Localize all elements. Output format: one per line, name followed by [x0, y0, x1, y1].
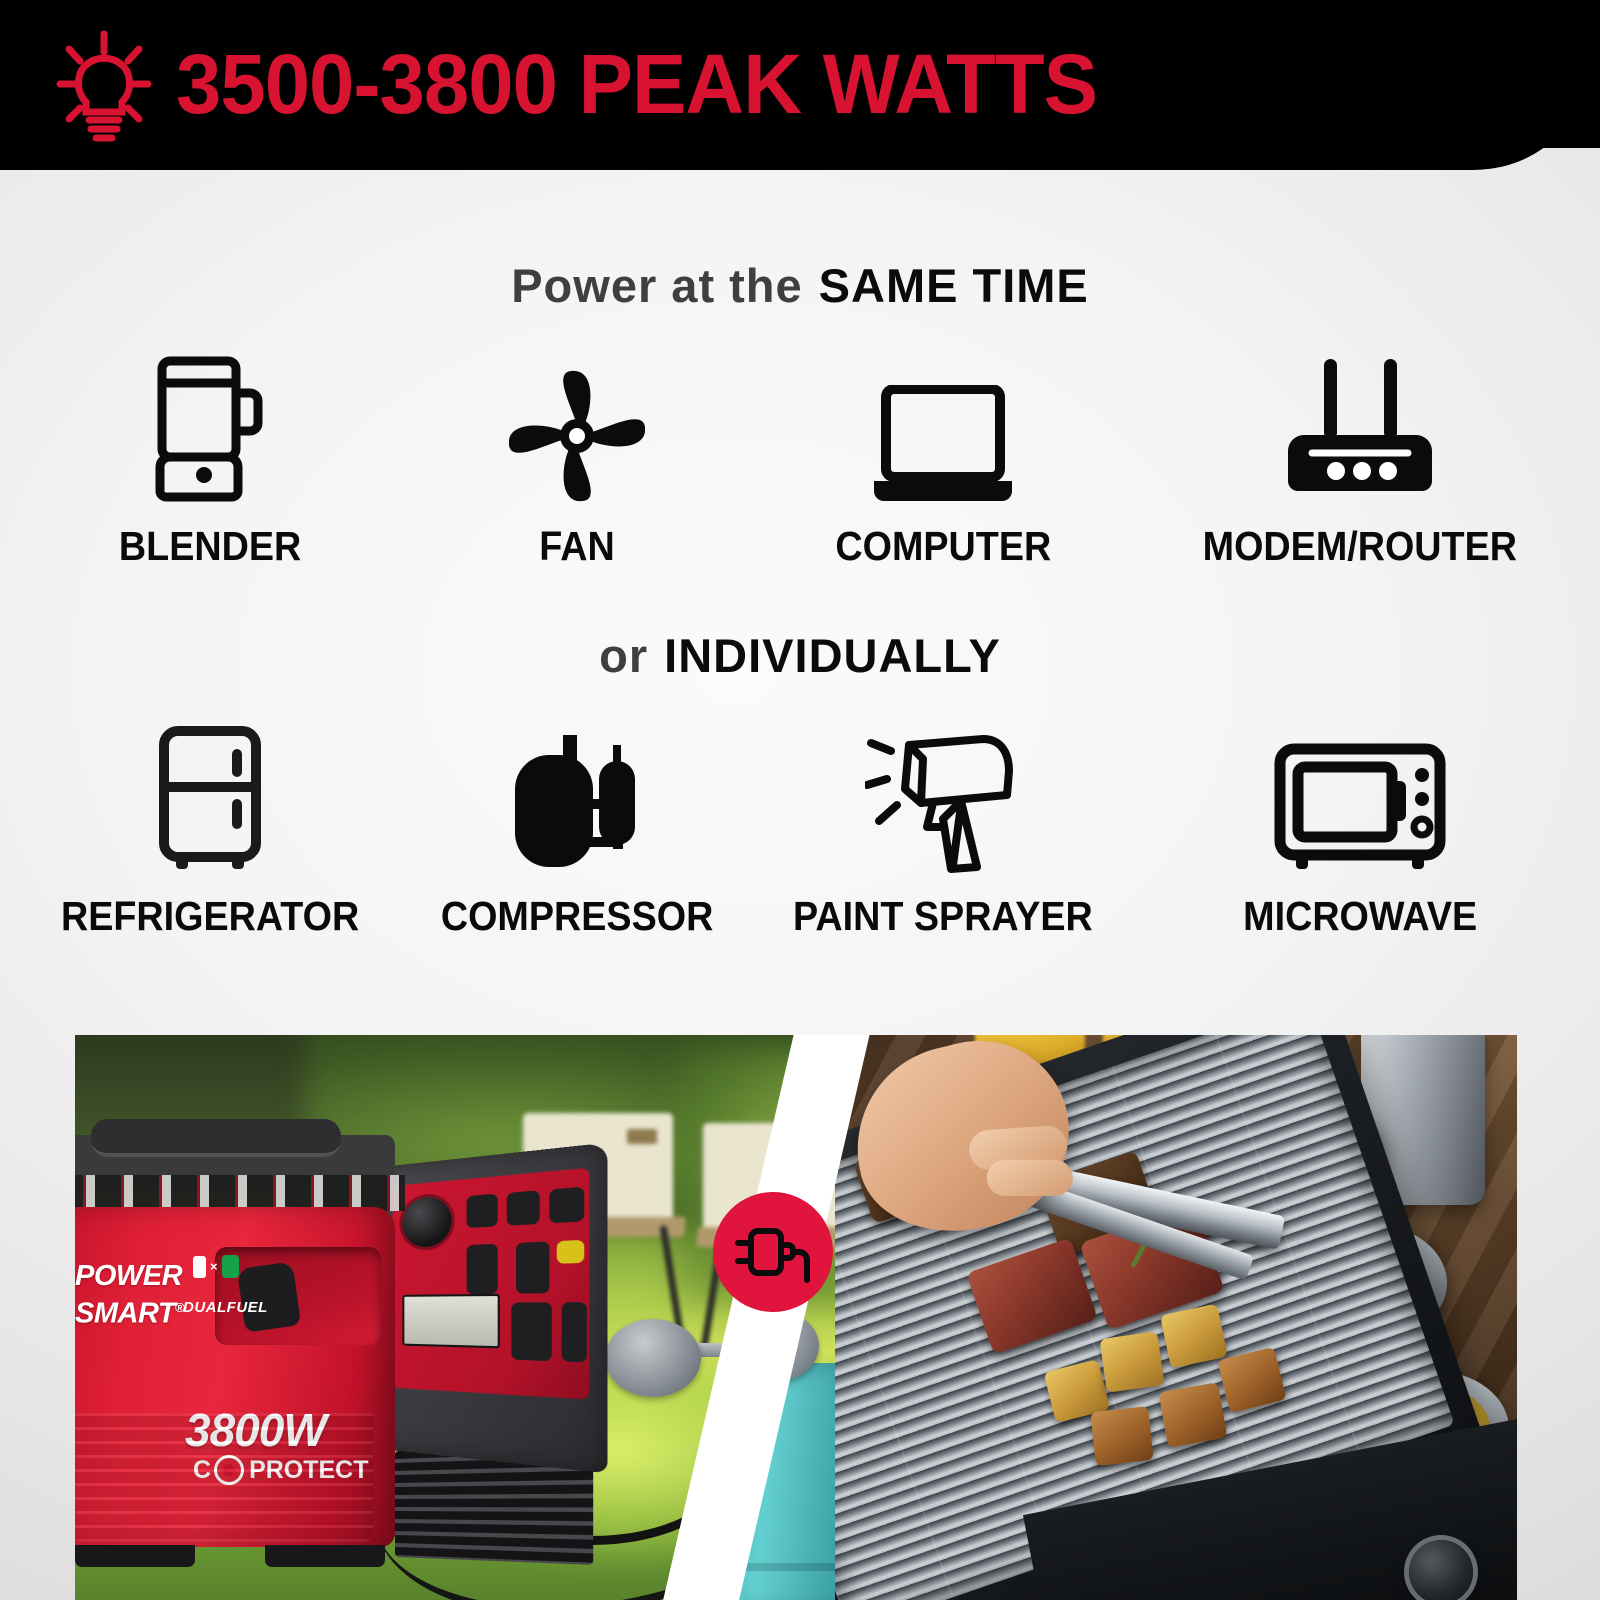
appliance-modem-router: MODEM/ROUTER — [1160, 358, 1560, 570]
appliance-fan: FAN — [427, 358, 727, 570]
portable-generator: POWER SMART® × DUALFUEL 3800W CPROTECT — [75, 1097, 585, 1597]
generator-pull-start — [237, 1261, 301, 1332]
photo-strip: POWER SMART® × DUALFUEL 3800W CPROTECT — [75, 1035, 1517, 1600]
generator-body: POWER SMART® × DUALFUEL 3800W CPROTECT — [75, 1207, 395, 1547]
infographic-page: 3500-3800 PEAK WATTS Power at theSAME TI… — [0, 0, 1600, 1600]
header-bar: 3500-3800 PEAK WATTS — [0, 0, 1600, 180]
dual-fuel-icons: × — [193, 1255, 239, 1278]
generator-start-knob — [402, 1195, 451, 1248]
microwave-label: MICROWAVE — [1243, 893, 1477, 940]
individually-heading-bold: INDIVIDUALLY — [664, 629, 1001, 682]
appliance-microwave: MICROWAVE — [1160, 728, 1560, 940]
skewer-cube — [1100, 1331, 1165, 1393]
simultaneous-appliance-row: BLENDER FAN — [40, 358, 1560, 570]
header-shape — [0, 0, 1600, 180]
generator-warning-sticker — [75, 1175, 405, 1211]
individual-appliance-row: REFRIGERATOR — [40, 728, 1560, 940]
appliance-blender: BLENDER — [40, 358, 380, 570]
skewer-cube — [1090, 1406, 1153, 1466]
blender-label: BLENDER — [119, 523, 301, 570]
refrigerator-label: REFRIGERATOR — [61, 893, 359, 940]
laptop-icon — [870, 358, 1016, 503]
appliance-computer: COMPUTER — [773, 358, 1113, 570]
modem-router-label: MODEM/ROUTER — [1203, 523, 1517, 570]
microwave-icon — [1274, 728, 1446, 873]
individually-heading-light: or — [599, 629, 648, 682]
skewer-cube — [1159, 1382, 1228, 1448]
bbq-grill-photo — [835, 1035, 1517, 1600]
router-icon — [1280, 358, 1440, 503]
appliance-icons-area: Power at theSAME TIME BLENDER — [0, 180, 1600, 1035]
individually-heading: orINDIVIDUALLY — [0, 632, 1600, 679]
fan-label: FAN — [539, 523, 614, 570]
appliance-compressor: COMPRESSOR — [427, 728, 727, 940]
appliance-paint-sprayer: PAINT SPRAYER — [773, 728, 1113, 940]
dual-fuel-label: DUALFUEL — [183, 1299, 268, 1316]
paint-sprayer-label: PAINT SPRAYER — [793, 893, 1093, 940]
same-time-heading: Power at theSAME TIME — [0, 262, 1600, 309]
paint-sprayer-icon — [865, 728, 1021, 873]
refrigerator-icon — [154, 728, 266, 873]
generator-foot — [265, 1545, 385, 1567]
same-time-heading-bold: SAME TIME — [819, 259, 1089, 312]
generator-wattage-label: 3800W — [185, 1403, 326, 1457]
generator-control-panel — [381, 1143, 608, 1474]
page-title: 3500-3800 PEAK WATTS — [176, 36, 1097, 133]
generator-brand: POWER SMART® — [75, 1261, 184, 1330]
generator-display — [402, 1294, 500, 1349]
power-plug-badge — [713, 1192, 833, 1312]
generator-handle — [91, 1119, 341, 1157]
lightbulb-icon — [56, 30, 152, 142]
appliance-refrigerator: REFRIGERATOR — [40, 728, 380, 940]
fan-icon — [509, 358, 645, 503]
blender-icon — [148, 358, 272, 503]
computer-label: COMPUTER — [835, 523, 1051, 570]
generator-foot — [75, 1545, 195, 1567]
power-plug-icon — [735, 1221, 811, 1283]
co-protect-badge: CPROTECT — [193, 1455, 369, 1485]
air-compressor-icon — [511, 728, 643, 873]
grill-control-knob[interactable] — [1409, 1540, 1473, 1600]
same-time-heading-light: Power at the — [511, 259, 802, 312]
compressor-label: COMPRESSOR — [440, 893, 712, 940]
